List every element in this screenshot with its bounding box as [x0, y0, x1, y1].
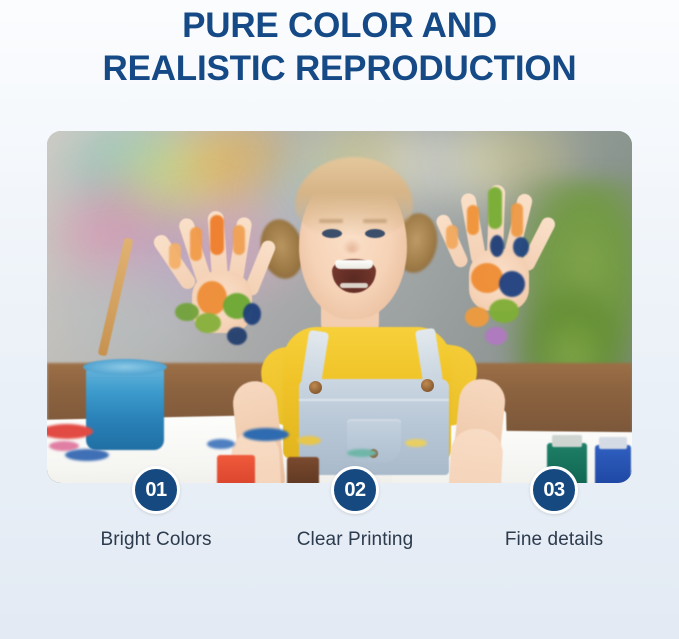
upper-teeth — [335, 260, 373, 269]
nose — [343, 239, 361, 253]
feature-item-01: 01 Bright Colors — [76, 466, 236, 551]
paint-splash — [65, 449, 109, 461]
paint-smear — [197, 281, 227, 315]
paint-smear — [489, 299, 519, 323]
feature-label-01: Bright Colors — [76, 529, 236, 551]
paint-smear — [169, 243, 181, 269]
paint-smear — [471, 263, 503, 293]
lower-teeth — [340, 283, 368, 288]
paint-smear — [195, 313, 221, 333]
paint-smear — [467, 205, 479, 235]
feature-number-badge-03: 03 — [530, 466, 578, 514]
overall-seam — [299, 399, 449, 401]
cup-rim — [83, 359, 167, 375]
paint-smear — [227, 327, 247, 345]
paint-smear — [490, 235, 504, 257]
feature-number-badge-01: 01 — [132, 466, 180, 514]
page-title-line-2: REALISTIC REPRODUCTION — [0, 47, 679, 90]
paint-splash — [243, 428, 289, 441]
feature-item-03: 03 Fine details — [474, 466, 634, 551]
paint-splash — [405, 439, 427, 447]
eye-left — [322, 229, 342, 238]
hair — [295, 157, 413, 237]
feature-number-badge-02: 02 — [331, 466, 379, 514]
paint-splash — [347, 449, 377, 457]
paint-splash — [207, 439, 235, 449]
blue-water-cup — [86, 367, 164, 450]
feature-label-02: Clear Printing — [275, 529, 435, 551]
paint-smear — [210, 215, 224, 255]
paint-smear — [488, 187, 502, 229]
feature-label-03: Fine details — [474, 529, 634, 551]
paint-smear — [485, 327, 507, 345]
paint-smear — [446, 225, 458, 249]
page-title: PURE COLOR AND REALISTIC REPRODUCTION — [0, 0, 679, 90]
paint-bottle-cap — [599, 437, 627, 449]
paint-smear — [465, 307, 489, 327]
paint-smear — [499, 271, 525, 297]
eyebrow-right — [363, 219, 387, 223]
eyebrow-left — [319, 219, 343, 223]
paint-smear — [190, 227, 202, 261]
paint-smear — [513, 237, 529, 257]
feature-item-02: 02 Clear Printing — [275, 466, 435, 551]
paint-smear — [243, 303, 261, 325]
paint-smear — [511, 203, 523, 237]
paint-splash — [297, 436, 321, 445]
paint-bottle-cap — [552, 435, 582, 447]
hero-photo — [47, 131, 632, 483]
eye-right — [365, 229, 385, 238]
overall-clasp-right — [421, 379, 434, 392]
overall-clasp-left — [309, 381, 322, 394]
page-title-line-1: PURE COLOR AND — [0, 4, 679, 47]
paint-smear — [233, 225, 245, 255]
paint-smear — [175, 303, 199, 321]
